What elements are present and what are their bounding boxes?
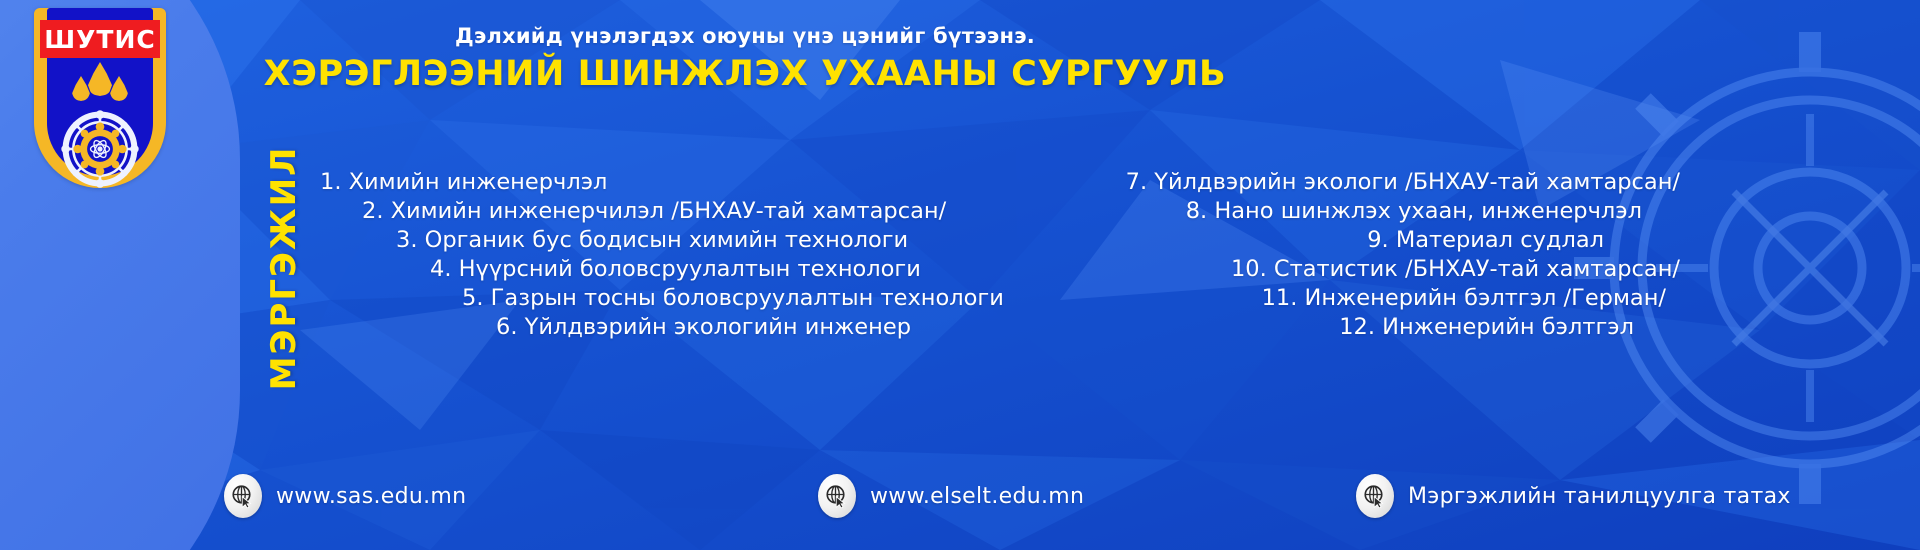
list-item: 1. Химийн инженерчлэл bbox=[300, 168, 1060, 197]
globe-cursor-icon bbox=[818, 474, 856, 518]
footer-link-label: www.elselt.edu.mn bbox=[870, 484, 1084, 509]
list-item: 12. Инженерийн бэлтгэл bbox=[1060, 313, 1680, 342]
globe-cursor-icon bbox=[224, 474, 262, 518]
list-item: 11. Инженерийн бэлтгэл /Герман/ bbox=[1060, 284, 1680, 313]
list-item: 5. Газрын тосны боловсруулалтын технолог… bbox=[300, 284, 1060, 313]
list-item: 3. Органик бус бодисын химийн технологи bbox=[300, 226, 1060, 255]
tagline-text: Дэлхийд үнэлэгдэх оюуны үнэ цэнийг бүтээ… bbox=[0, 24, 1490, 48]
footer-links: www.sas.edu.mn www.elselt.edu.mn bbox=[0, 474, 1920, 518]
dharma-wheel-icon bbox=[57, 106, 143, 196]
list-item: 7. Үйлдвэрийн экологи /БНХАУ-тай хамтарс… bbox=[1060, 168, 1680, 197]
list-item: 6. Үйлдвэрийн экологийн инженер bbox=[300, 313, 1060, 342]
globe-cursor-icon bbox=[1356, 474, 1394, 518]
footer-link-sas-website[interactable]: www.sas.edu.mn bbox=[224, 474, 466, 518]
list-item: 2. Химийн инженерчилэл /БНХАУ-тай хамтар… bbox=[300, 197, 1060, 226]
page-title: Дэлхийд үнэлэгдэх оюуны үнэ цэнийг бүтээ… bbox=[0, 24, 1490, 94]
list-item: 4. Нүүрсний боловсруулалтын технологи bbox=[300, 255, 1060, 284]
majors-list-left: 1. Химийн инженерчлэл 2. Химийн инженерч… bbox=[300, 168, 1060, 342]
footer-link-elselt-website[interactable]: www.elselt.edu.mn bbox=[818, 474, 1084, 518]
footer-link-download-brochure[interactable]: Мэргэжлийн танилцуулга татах bbox=[1356, 474, 1791, 518]
admissions-banner: ШУТИС bbox=[0, 0, 1920, 550]
section-label-text: МЭРГЭЖИЛ bbox=[264, 146, 304, 391]
list-item: 8. Нано шинжлэх ухаан, инженерчлэл bbox=[1060, 197, 1680, 226]
school-title-text: ХЭРЭГЛЭЭНИЙ ШИНЖЛЭХ УХААНЫ СУРГУУЛЬ bbox=[0, 54, 1490, 94]
list-item: 10. Статистик /БНХАУ-тай хамтарсан/ bbox=[1060, 255, 1680, 284]
majors-list-right: 7. Үйлдвэрийн экологи /БНХАУ-тай хамтарс… bbox=[1060, 168, 1680, 342]
footer-link-label: www.sas.edu.mn bbox=[276, 484, 466, 509]
list-item: 9. Материал судлал bbox=[1060, 226, 1680, 255]
footer-link-label: Мэргэжлийн танилцуулга татах bbox=[1408, 484, 1791, 509]
